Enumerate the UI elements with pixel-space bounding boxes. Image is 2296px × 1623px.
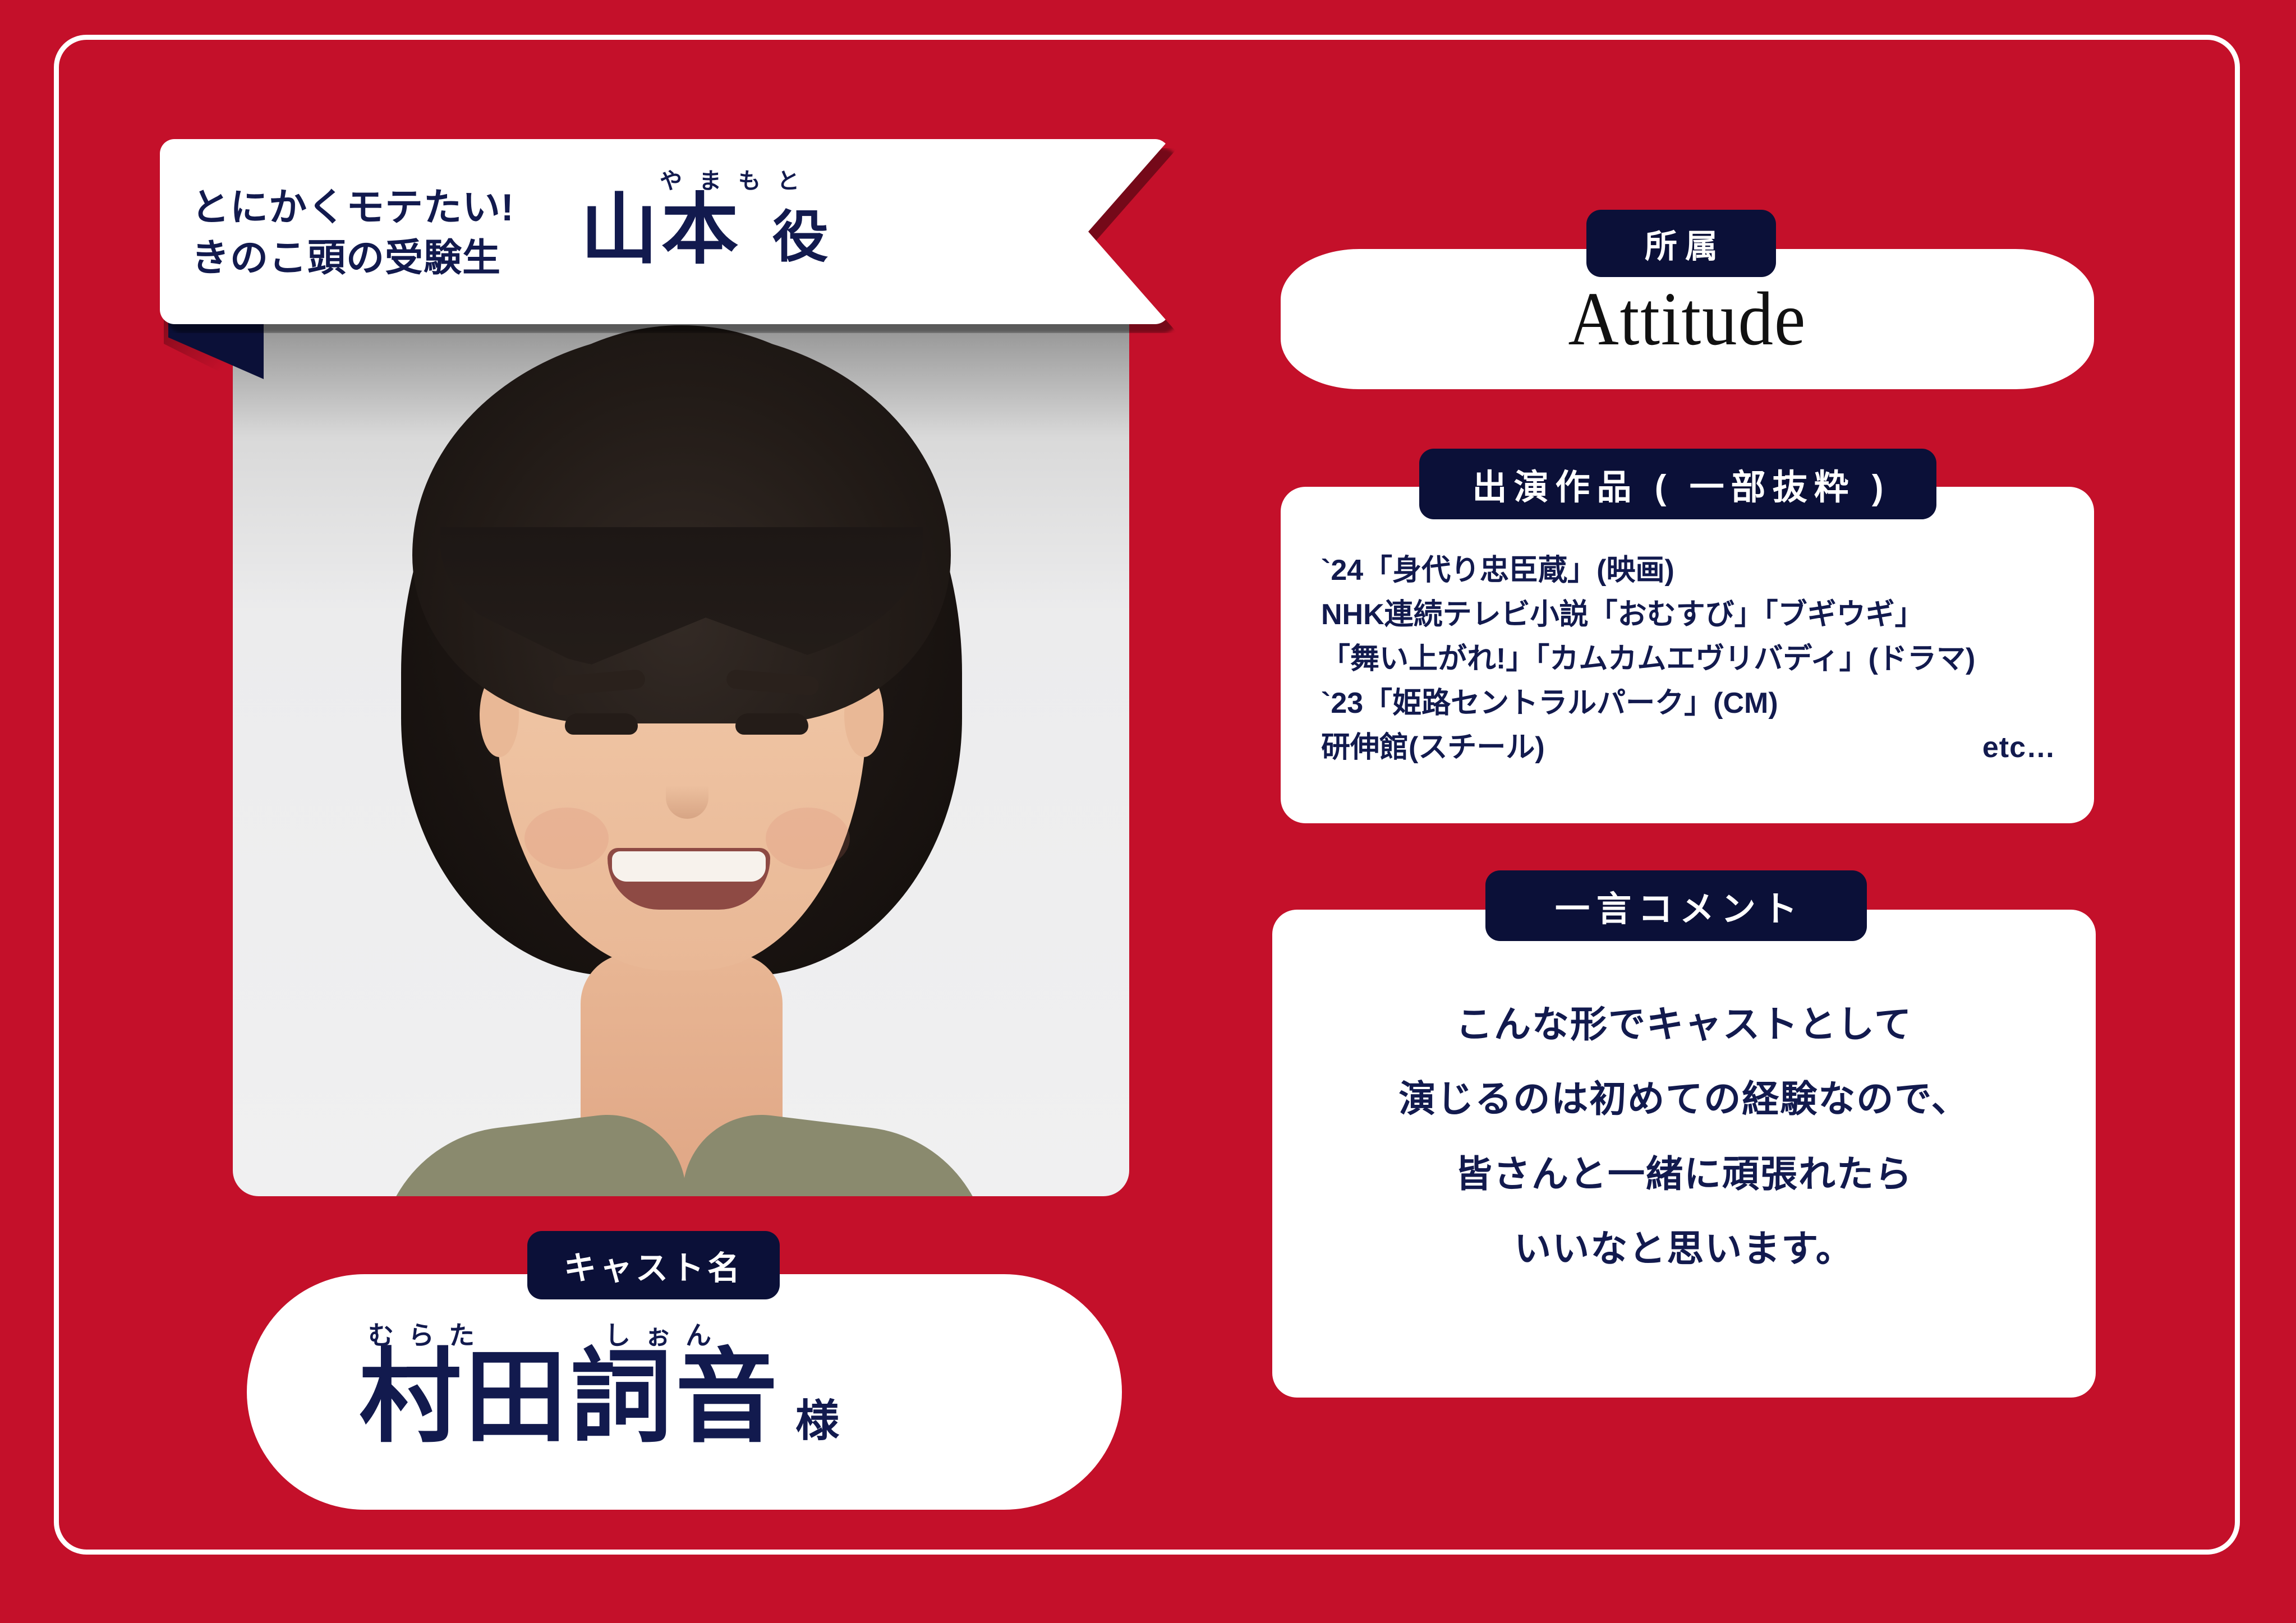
photo-teeth — [612, 851, 766, 882]
works-etc-label: etc… — [1982, 726, 2067, 770]
photo-cheek-left — [524, 808, 609, 869]
role-name-group: 山本 役 — [581, 191, 829, 272]
comment-text: こんな形でキャストとして 演じるのは初めての経験なので、 皆さんと一緒に頑張れた… — [1272, 987, 2096, 1286]
works-item: `23「姫路セントラルパーク」(CM) — [1321, 681, 2067, 726]
role-name: 山本 — [581, 191, 742, 269]
agency-logo-text: Attitude — [1568, 275, 1807, 363]
cast-name-honorific: 様 — [795, 1399, 839, 1448]
agency-badge: 所属 — [1586, 210, 1776, 277]
photo-eye-left — [565, 713, 638, 735]
photo-mouth — [608, 848, 770, 910]
photo-nose — [666, 763, 708, 819]
agency-badge-label: 所属 — [1637, 220, 1726, 267]
comment-badge-label: 一言コメント — [1548, 880, 1804, 931]
works-item: NHK連続テレビ小説「おむすび」「ブギウギ」 — [1321, 593, 2067, 637]
works-badge-label: 出演作品 ( 一部抜粋 ) — [1466, 459, 1890, 509]
role-suffix: 役 — [772, 209, 829, 269]
photo-cheek-right — [766, 808, 850, 869]
works-badge: 出演作品 ( 一部抜粋 ) — [1419, 449, 1936, 519]
photo-eye-right — [735, 713, 808, 735]
cast-name-badge: キャスト名 — [527, 1231, 780, 1299]
cast-headshot-photo — [233, 314, 1129, 1196]
cast-name: 村田詞音 — [359, 1346, 781, 1448]
cast-profile-card: とにかくモテたい! きのこ頭の受験生 山本 役 やまもと キャスト名 むらた し… — [0, 0, 2296, 1623]
role-description: とにかくモテたい! きのこ頭の受験生 — [191, 179, 514, 284]
cast-name-row: 村田詞音 様 — [359, 1346, 839, 1448]
works-item: 「舞い上がれ!」「カムカムエヴリバディ」(ドラマ) — [1321, 637, 2067, 681]
works-item: `24「身代り忠臣蔵」(映画) — [1321, 548, 2067, 593]
role-name-ruby: やまもと — [660, 163, 816, 195]
works-item-last-row: 研伸館(スチール) etc… — [1321, 726, 2067, 770]
works-list: `24「身代り忠臣蔵」(映画) NHK連続テレビ小説「おむすび」「ブギウギ」 「… — [1321, 548, 2067, 770]
comment-badge: 一言コメント — [1485, 870, 1867, 941]
cast-name-badge-label: キャスト名 — [564, 1242, 743, 1289]
works-item: 研伸館(スチール) — [1321, 726, 1545, 770]
